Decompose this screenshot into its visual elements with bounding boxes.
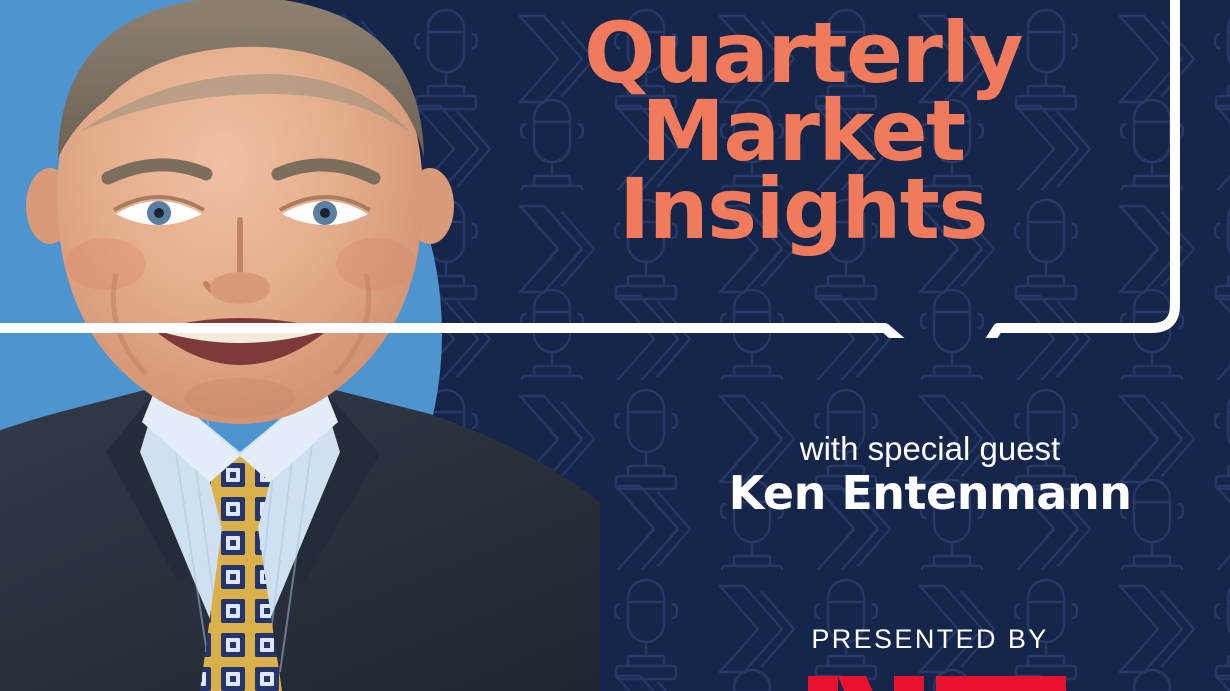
- title-line-3: Insights: [548, 170, 1058, 248]
- guest-portrait: [0, 0, 610, 691]
- presented-by-block: PRESENTED BY: [690, 624, 1170, 655]
- episode-cover: Quarterly Market Insights with special g…: [0, 0, 1230, 691]
- presenter-logo: [808, 670, 1066, 691]
- title-line-2: Market: [548, 92, 1058, 170]
- guest-name: Ken Entenmann: [690, 468, 1170, 520]
- episode-title: Quarterly Market Insights: [548, 14, 1058, 248]
- title-line-1: Quarterly: [548, 14, 1058, 92]
- guest-prefix: with special guest: [690, 432, 1170, 466]
- presented-by-label: PRESENTED BY: [690, 624, 1170, 655]
- guest-block: with special guest Ken Entenmann: [690, 432, 1170, 519]
